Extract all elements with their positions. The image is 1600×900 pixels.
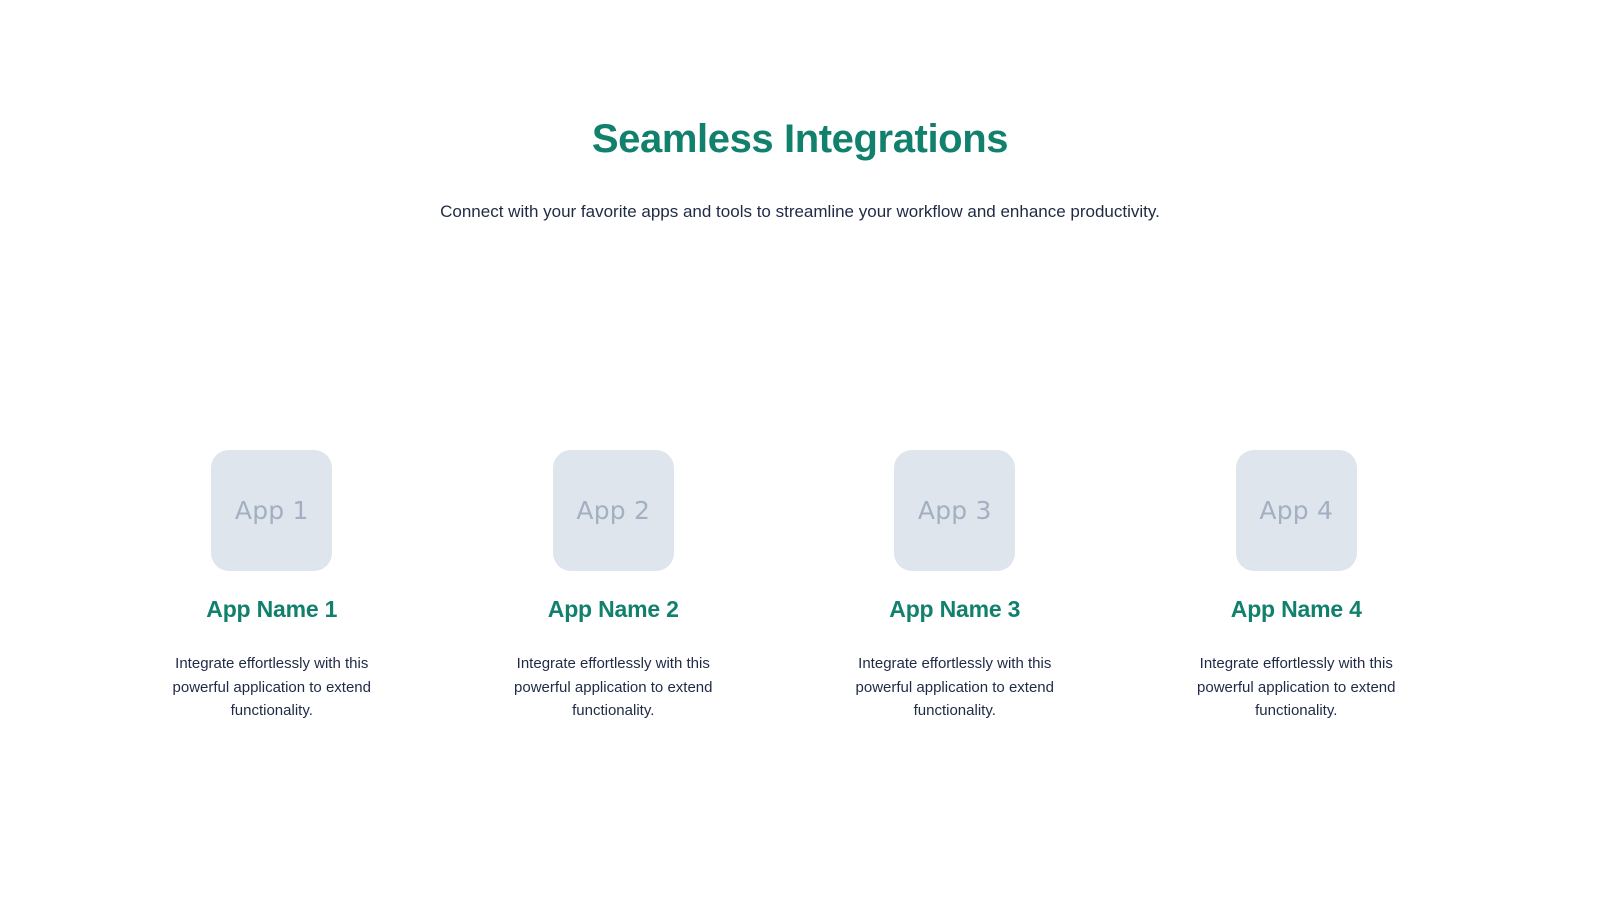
app-logo-placeholder-text: App 2: [576, 498, 650, 523]
app-name: App Name 1: [206, 571, 337, 624]
app-name: App Name 2: [548, 571, 679, 624]
app-description: Integrate effortlessly with this powerfu…: [1180, 624, 1412, 723]
app-logo-tile: App 4: [1236, 450, 1357, 571]
app-name: App Name 3: [889, 571, 1020, 624]
integrations-page: Seamless Integrations Connect with your …: [0, 0, 1600, 900]
page-subtitle: Connect with your favorite apps and tool…: [0, 166, 1600, 225]
section-header: Seamless Integrations Connect with your …: [0, 112, 1600, 225]
app-description: Integrate effortlessly with this powerfu…: [497, 624, 729, 723]
integration-card[interactable]: App 3 App Name 3 Integrate effortlessly …: [784, 450, 1126, 723]
app-logo-tile: App 3: [894, 450, 1015, 571]
integration-card[interactable]: App 1 App Name 1 Integrate effortlessly …: [101, 450, 443, 723]
app-description: Integrate effortlessly with this powerfu…: [156, 624, 388, 723]
integration-card[interactable]: App 2 App Name 2 Integrate effortlessly …: [443, 450, 785, 723]
app-name: App Name 4: [1231, 571, 1362, 624]
app-logo-tile: App 2: [553, 450, 674, 571]
app-description: Integrate effortlessly with this powerfu…: [839, 624, 1071, 723]
app-logo-placeholder-text: App 3: [918, 498, 992, 523]
integration-card[interactable]: App 4 App Name 4 Integrate effortlessly …: [1126, 450, 1468, 723]
app-logo-tile: App 1: [211, 450, 332, 571]
page-title: Seamless Integrations: [0, 112, 1600, 166]
integrations-grid: App 1 App Name 1 Integrate effortlessly …: [101, 450, 1467, 723]
app-logo-placeholder-text: App 4: [1259, 498, 1333, 523]
app-logo-placeholder-text: App 1: [235, 498, 309, 523]
